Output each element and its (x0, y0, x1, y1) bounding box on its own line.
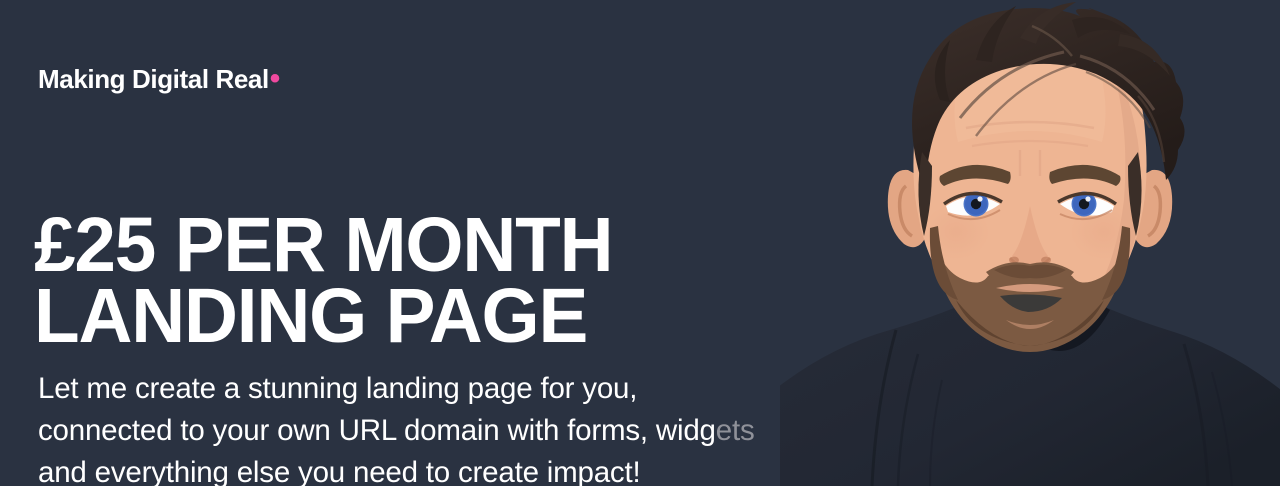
brand-logo: Making Digital Real• (38, 64, 280, 94)
description-line-2-visible: connected to your own URL domain with fo… (38, 414, 716, 447)
page-title: £25 PER MONTH LANDING PAGE (34, 210, 612, 353)
description-line-2-faded: ets (716, 414, 755, 447)
description-line-1: Let me create a stunning landing page fo… (38, 368, 868, 410)
hero-text-column: Making Digital Real• £25 PER MONTH LANDI… (38, 0, 898, 486)
brand-logo-dot-icon: • (270, 62, 280, 95)
hero-banner: Making Digital Real• £25 PER MONTH LANDI… (0, 0, 1280, 486)
hero-description: Let me create a stunning landing page fo… (38, 368, 868, 486)
description-line-2: connected to your own URL domain with fo… (38, 410, 868, 452)
headline-line-1: £25 PER MONTH (34, 210, 612, 282)
brand-logo-text: Making Digital Real (38, 64, 269, 94)
description-line-3: and everything else you need to create i… (38, 452, 868, 486)
headline-line-2: LANDING PAGE (34, 281, 612, 353)
